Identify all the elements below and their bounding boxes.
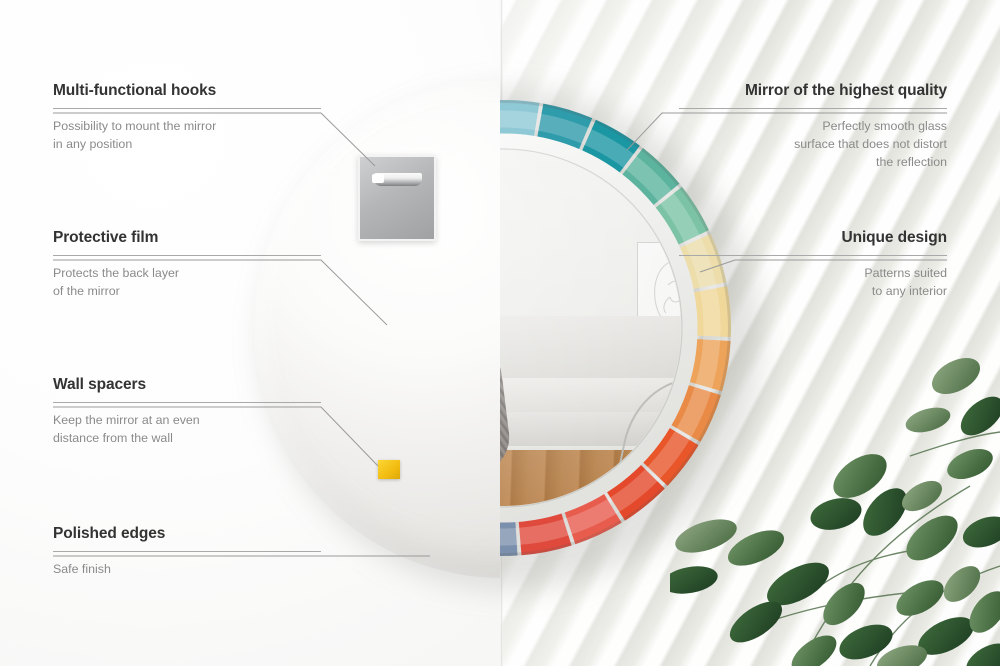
callout-body: Patterns suited to any interior — [679, 265, 947, 301]
callout-rule — [53, 402, 321, 403]
callout-title: Unique design — [679, 229, 947, 248]
callout-rule — [679, 255, 947, 256]
callout-rule — [679, 108, 947, 109]
callout-body: Perfectly smooth glass surface that does… — [679, 118, 947, 172]
callout-title: Wall spacers — [53, 376, 321, 395]
callout-body: Protects the back layer of the mirror — [53, 265, 321, 301]
callout-unique-design: Unique design Patterns suited to any int… — [679, 229, 947, 301]
callout-title: Mirror of the highest quality — [679, 82, 947, 101]
callout-title: Multi-functional hooks — [53, 82, 321, 101]
callout-wall-spacers: Wall spacers Keep the mirror at an even … — [53, 376, 321, 448]
hook-slot-icon — [374, 173, 422, 186]
callout-rule — [53, 255, 321, 256]
callout-body: Safe finish — [53, 561, 321, 579]
callout-protective-film: Protective film Protects the back layer … — [53, 229, 321, 301]
callout-body: Possibility to mount the mirror in any p… — [53, 118, 321, 154]
callout-rule — [53, 551, 321, 552]
callout-body: Keep the mirror at an even distance from… — [53, 412, 321, 448]
callout-mirror-of-the-highest-quality: Mirror of the highest quality Perfectly … — [679, 82, 947, 172]
callout-multi-functional-hooks: Multi-functional hooks Possibility to mo… — [53, 82, 321, 154]
hook-plate-part — [358, 155, 436, 241]
callout-rule — [53, 108, 321, 109]
callout-polished-edges: Polished edges Safe finish — [53, 525, 321, 579]
wall-spacer-part — [378, 460, 400, 479]
mirror-product-image — [253, 78, 753, 578]
infographic-canvas: Multi-functional hooks Possibility to mo… — [0, 0, 1000, 666]
callout-title: Protective film — [53, 229, 321, 248]
callout-title: Polished edges — [53, 525, 321, 544]
